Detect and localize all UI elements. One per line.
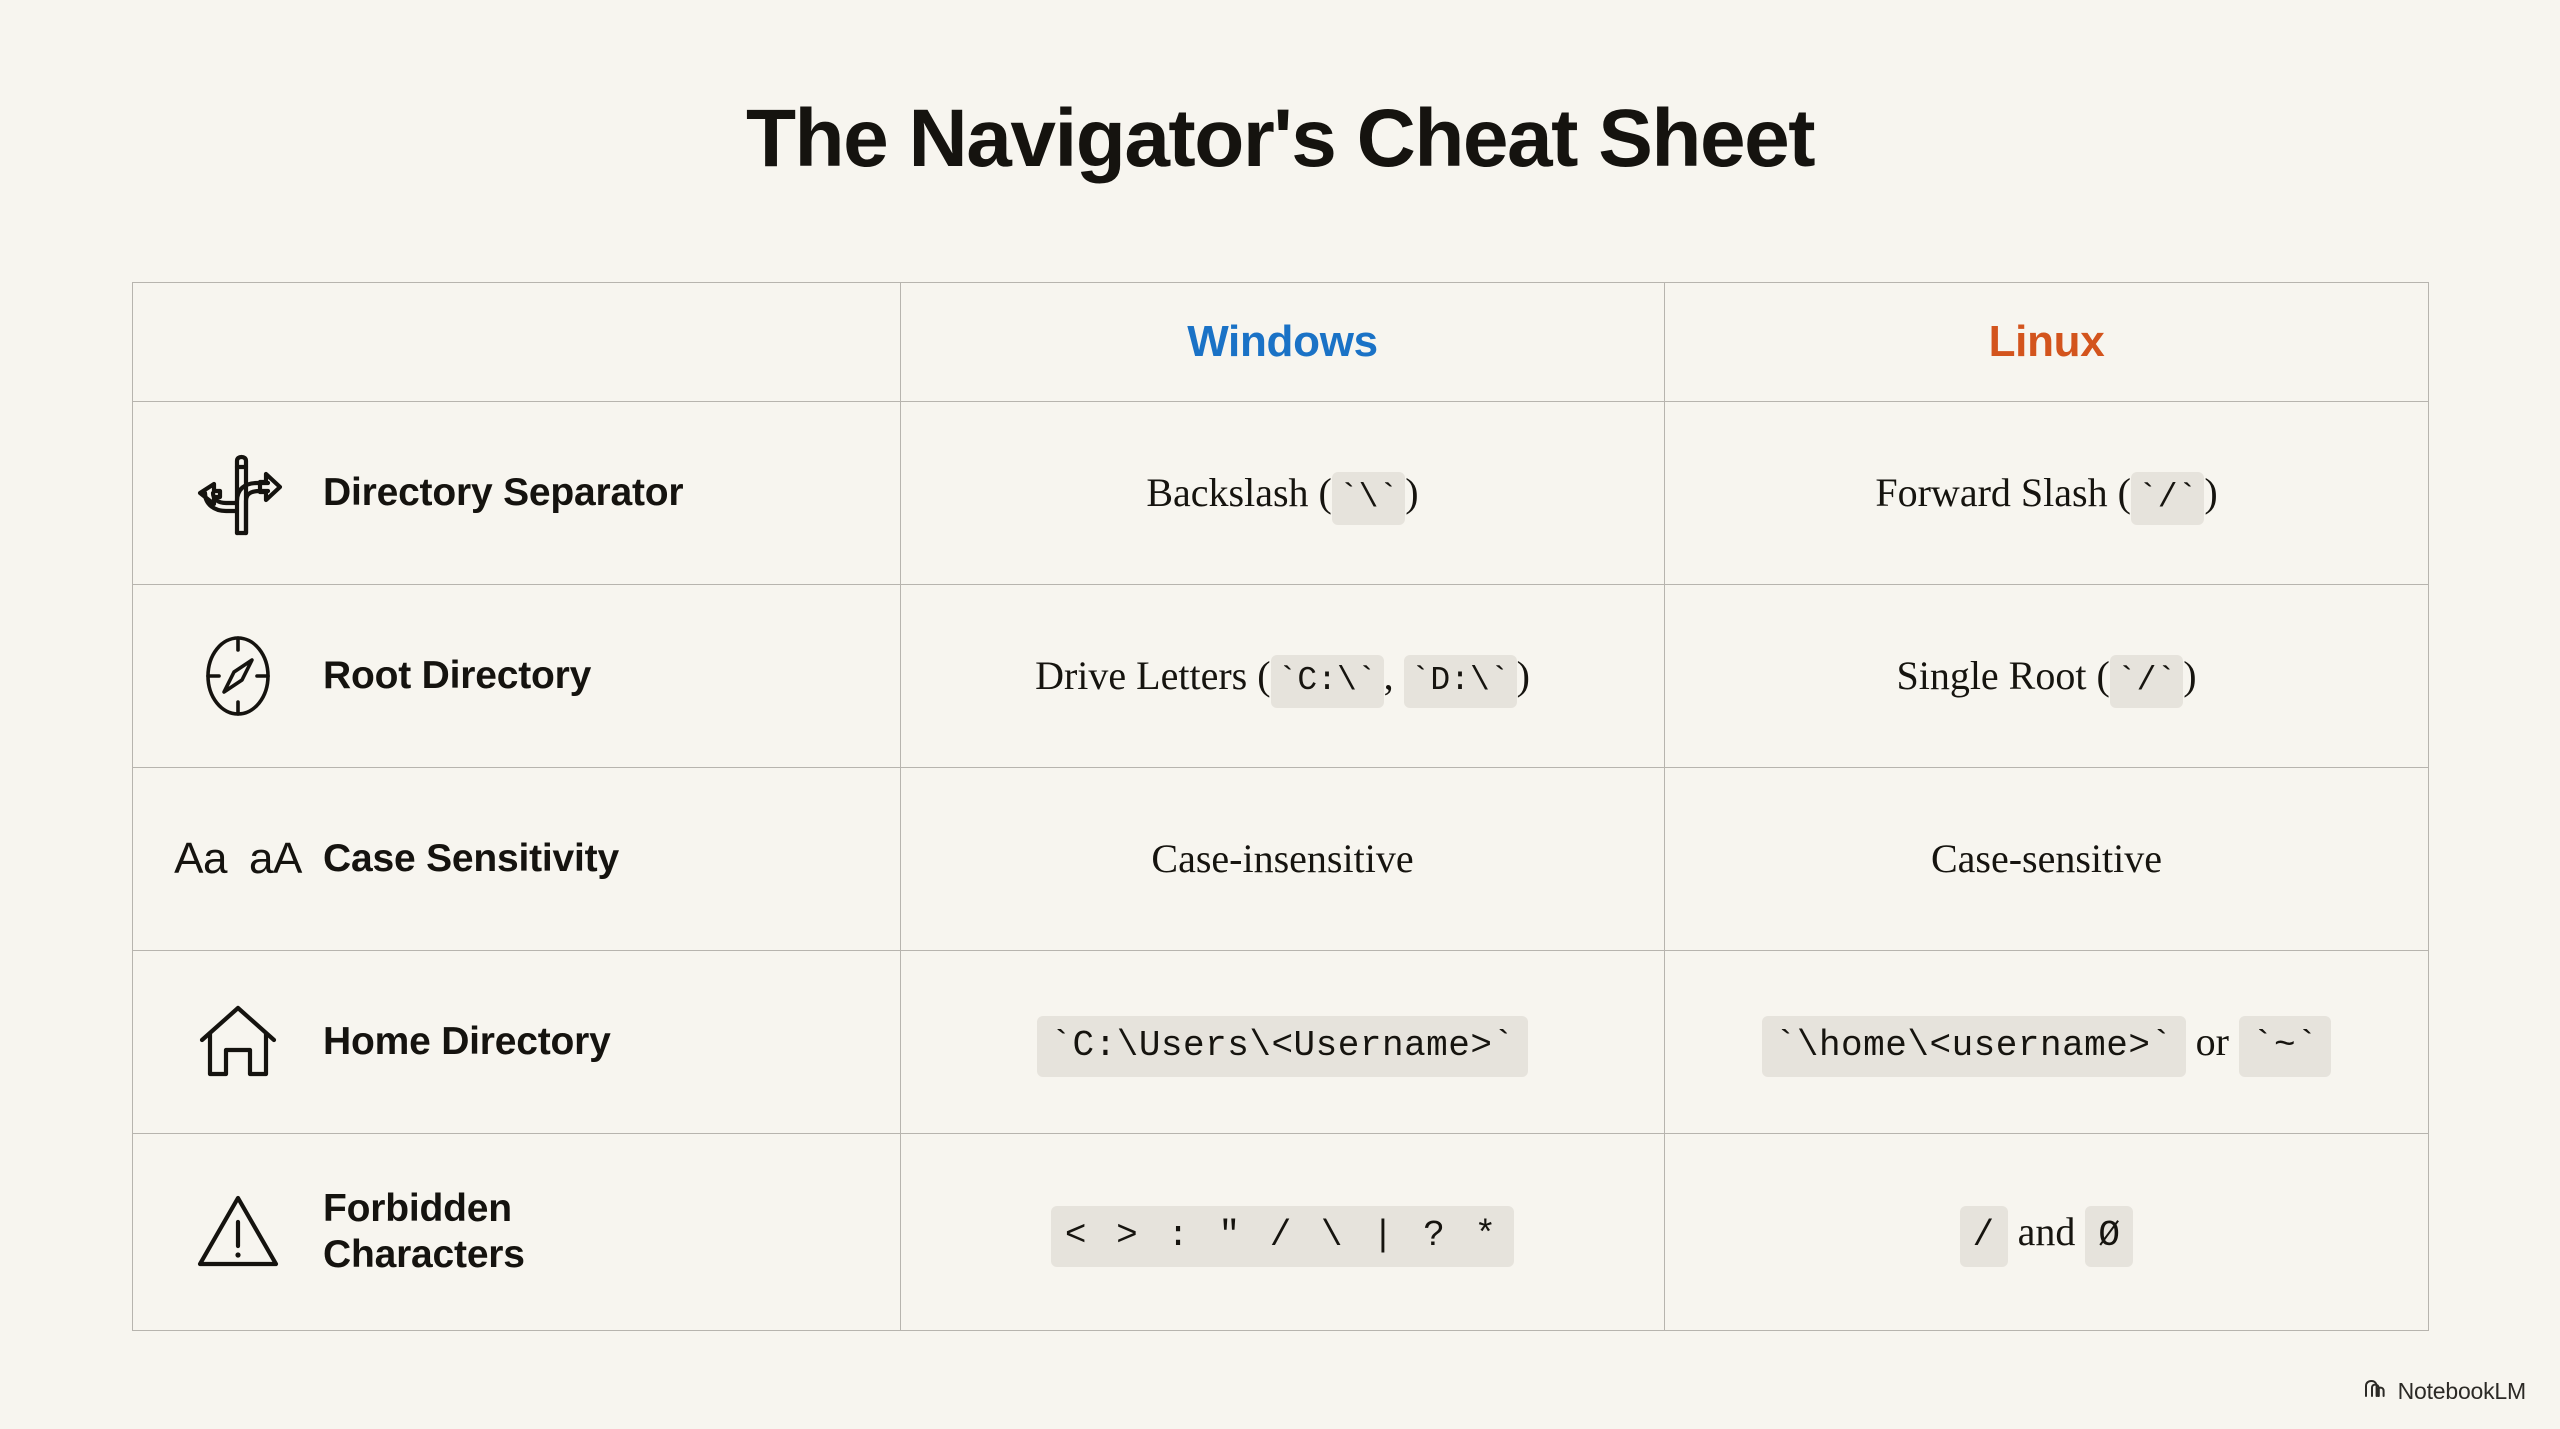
case-sensitivity-icon: Aa aA	[175, 828, 301, 890]
notebooklm-watermark: NotebookLM	[2363, 1378, 2526, 1405]
warning-triangle-icon	[175, 1184, 301, 1280]
value-suffix: )	[2183, 653, 2196, 698]
code-chip: `\`	[1332, 472, 1405, 525]
value-prefix: Single Root (	[1896, 653, 2109, 698]
table-header-row: Windows Linux	[133, 283, 2429, 402]
value-middle: or	[2186, 1019, 2239, 1064]
value-suffix: )	[2204, 470, 2217, 515]
value-suffix: )	[1517, 653, 1530, 698]
feature-cell: Home Directory	[133, 951, 901, 1134]
feature-cell: Aa aA Case Sensitivity	[133, 768, 901, 951]
table-row: Aa aA Case Sensitivity Case-insensitive …	[133, 768, 2429, 951]
code-chip-secondary: `~`	[2239, 1016, 2331, 1077]
code-chip: `/`	[2131, 472, 2204, 525]
feature-label: Root Directory	[323, 653, 591, 699]
feature-cell: Forbidden Characters	[133, 1134, 901, 1331]
feature-label: Directory Separator	[323, 470, 683, 516]
table-row: Root Directory Drive Letters (`C:\`, `D:…	[133, 585, 2429, 768]
case-icon-right-text: aA	[249, 837, 302, 881]
value-text: Case-sensitive	[1931, 836, 2162, 881]
code-chip: /	[1960, 1206, 2008, 1267]
feature-cell: Root Directory	[133, 585, 901, 768]
column-header-feature	[133, 283, 901, 402]
column-header-linux: Linux	[1665, 283, 2429, 402]
value-text: Case-insensitive	[1151, 836, 1413, 881]
code-chip-secondary: Ø	[2085, 1206, 2133, 1267]
feature-label: Forbidden Characters	[323, 1186, 653, 1278]
windows-value-cell: < > : " / \ | ? *	[901, 1134, 1665, 1331]
linux-value-cell: Single Root (`/`)	[1665, 585, 2429, 768]
code-chip: `C:\`	[1271, 655, 1384, 708]
cheat-sheet-table: Windows Linux	[132, 282, 2429, 1331]
table-row: Directory Separator Backslash (`\`) Forw…	[133, 402, 2429, 585]
home-house-icon	[175, 994, 301, 1090]
notebooklm-label: NotebookLM	[2398, 1378, 2526, 1405]
value-prefix: Drive Letters (	[1035, 653, 1270, 698]
linux-value-cell: Case-sensitive	[1665, 768, 2429, 951]
table-row: Forbidden Characters < > : " / \ | ? * /…	[133, 1134, 2429, 1331]
feature-label: Home Directory	[323, 1019, 611, 1065]
value-middle: and	[2008, 1209, 2086, 1254]
column-header-windows: Windows	[901, 283, 1665, 402]
windows-value-cell: Drive Letters (`C:\`, `D:\`)	[901, 585, 1665, 768]
code-chip: `\home\<username>`	[1762, 1016, 2186, 1077]
table-header: Windows Linux	[133, 283, 2429, 402]
linux-value-cell: Forward Slash (`/`)	[1665, 402, 2429, 585]
code-chip: < > : " / \ | ? *	[1051, 1206, 1514, 1267]
value-prefix: Forward Slash (	[1875, 470, 2131, 515]
code-chip: `C:\Users\<Username>`	[1037, 1016, 1527, 1077]
cheat-sheet-table-wrapper: Windows Linux	[132, 282, 2428, 1331]
code-chip: `/`	[2110, 655, 2183, 708]
code-chip-secondary: `D:\`	[1404, 655, 1517, 708]
case-icon-left-text: Aa	[174, 837, 227, 881]
feature-label: Case Sensitivity	[323, 836, 619, 882]
cheat-sheet-page: The Navigator's Cheat Sheet Windows Linu…	[0, 0, 2560, 1429]
windows-value-cell: Case-insensitive	[901, 768, 1665, 951]
value-prefix: Backslash (	[1146, 470, 1332, 515]
table-row: Home Directory `C:\Users\<Username>` `\h…	[133, 951, 2429, 1134]
notebooklm-logo-icon	[2363, 1379, 2389, 1404]
linux-value-cell: `\home\<username>` or `~`	[1665, 951, 2429, 1134]
linux-value-cell: / and Ø	[1665, 1134, 2429, 1331]
value-middle: ,	[1384, 653, 1404, 698]
windows-value-cell: Backslash (`\`)	[901, 402, 1665, 585]
table-body: Directory Separator Backslash (`\`) Forw…	[133, 402, 2429, 1331]
windows-value-cell: `C:\Users\<Username>`	[901, 951, 1665, 1134]
feature-cell: Directory Separator	[133, 402, 901, 585]
compass-icon	[175, 628, 301, 724]
fork-road-arrows-icon	[175, 445, 301, 541]
page-title: The Navigator's Cheat Sheet	[0, 0, 2560, 180]
value-suffix: )	[1405, 470, 1418, 515]
